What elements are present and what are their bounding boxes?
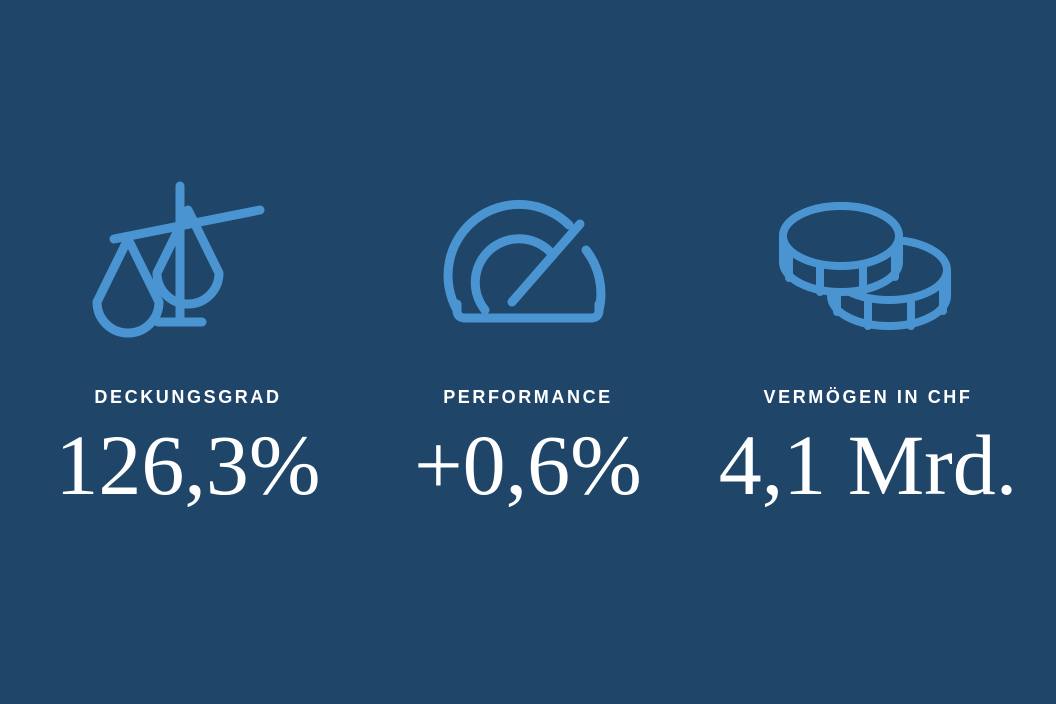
- speedometer-icon: [443, 172, 613, 352]
- stat-value: +0,6%: [414, 420, 642, 510]
- key-figures-panel: DECKUNGSGRAD 126,3% PERFORMANC: [0, 0, 1056, 704]
- coins-icon: [775, 172, 961, 352]
- stat-value: 4,1 Mrd.: [719, 420, 1018, 510]
- stat-card-deckungsgrad: DECKUNGSGRAD 126,3%: [18, 0, 358, 510]
- stat-label: VERMÖGEN IN CHF: [763, 388, 972, 406]
- balance-scale-icon: [100, 172, 276, 352]
- stat-label: PERFORMANCE: [443, 388, 613, 406]
- stat-value: 126,3%: [55, 420, 320, 510]
- stat-card-vermoegen: VERMÖGEN IN CHF 4,1 Mrd.: [698, 0, 1038, 510]
- stat-label: DECKUNGSGRAD: [94, 388, 281, 406]
- stat-card-performance: PERFORMANCE +0,6%: [358, 0, 698, 510]
- stats-row: DECKUNGSGRAD 126,3% PERFORMANC: [0, 0, 1056, 704]
